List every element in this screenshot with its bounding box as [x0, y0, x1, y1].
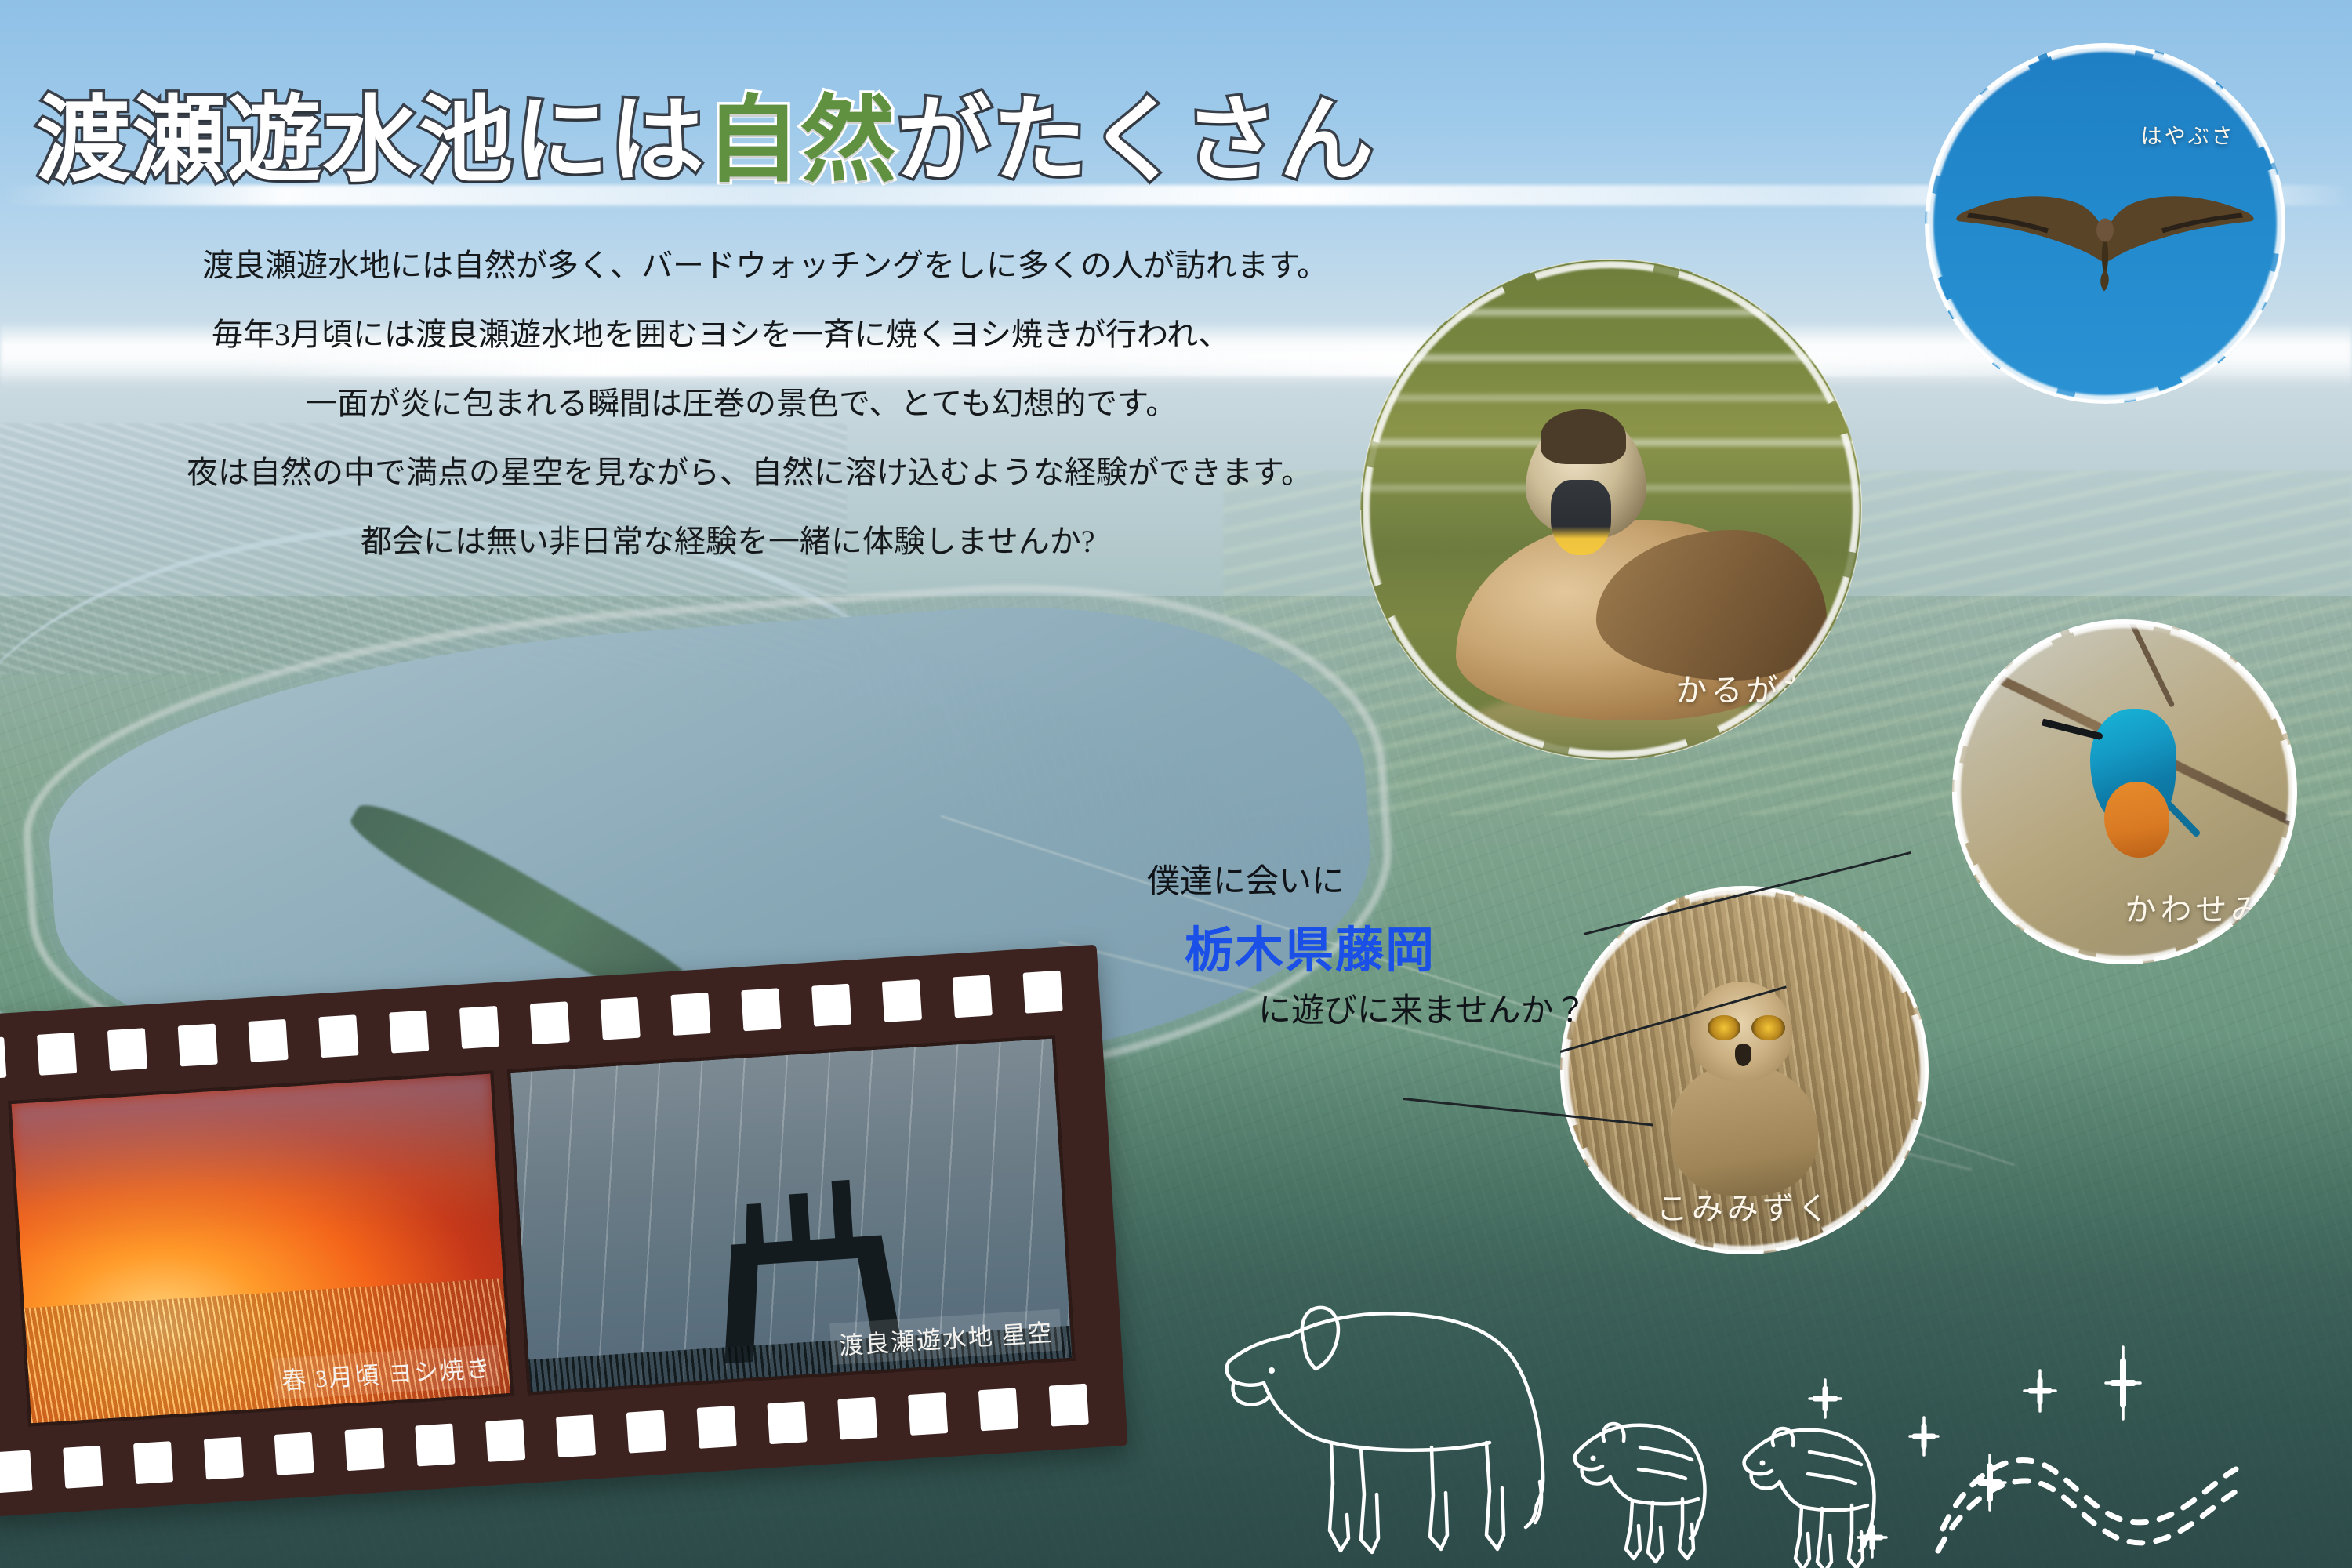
wild-boar-illustration: [1223, 1286, 2344, 1568]
branch-twig: [2095, 619, 2176, 708]
sparkles-icon: [1809, 1347, 2140, 1557]
bird-caption-duck: かるがも: [1675, 665, 1817, 710]
bird-photo-owl[interactable]: こみみずく: [1560, 886, 1929, 1254]
falcon-icon: [1936, 184, 2274, 306]
kingfisher-belly: [2104, 782, 2170, 858]
poster-canvas: 渡瀬遊水池には自然がたくさん 渡良瀬遊水地には自然が多く、バードウォッチングをし…: [0, 0, 2352, 1568]
boar-piglet-1-icon: [1575, 1424, 1705, 1562]
body-line-3: 一面が炎に包まれる瞬間は圧巻の景色で、とても幻想的です。: [180, 387, 1372, 420]
water-streak: [1360, 309, 1862, 316]
body-line-5: 都会には無い非日常な経験を一緒に体験しませんか?: [180, 525, 1372, 558]
bird-caption-kingfisher: かわせみ: [2125, 884, 2266, 930]
title-part-1: 渡瀬遊水池には: [36, 88, 706, 193]
body-line-1: 渡良瀬遊水地には自然が多く、バードウォッチングをしに多くの人が訪れます。: [180, 249, 1372, 282]
smoke-layer: [12, 1074, 500, 1251]
boar-piglet-2-icon: [1744, 1428, 1875, 1568]
filmstrip-frame-reed-burning[interactable]: 春 3月頃 ヨシ焼き: [8, 1070, 514, 1426]
duck-crown: [1541, 409, 1626, 464]
dashed-trail-icon: [1938, 1461, 2239, 1551]
cta-line-3: に遊びに来ませんか？: [1258, 984, 1587, 1032]
boar-adult-icon: [1227, 1308, 1544, 1552]
filmstrip[interactable]: 春 3月頃 ヨシ焼き 渡良瀬遊水地 星空: [0, 945, 1128, 1517]
call-to-action: 僕達に会いに 栃木県藤岡 に遊びに来ませんか？: [1141, 855, 1587, 1032]
bird-photo-kingfisher[interactable]: かわせみ: [1952, 619, 2297, 964]
filmstrip-frame-starry-sky[interactable]: 渡良瀬遊水地 星空: [507, 1035, 1076, 1395]
bird-caption-falcon: はやぶさ: [2141, 119, 2235, 150]
bird-photo-duck[interactable]: かるがも: [1360, 259, 1862, 760]
bird-caption-owl: こみみずく: [1657, 1183, 1833, 1229]
duck-bill: [1551, 480, 1611, 555]
water-streak: [1360, 354, 1862, 361]
title-part-accent: 自然: [706, 88, 897, 193]
cta-location-highlight: 栃木県藤岡: [1185, 910, 1587, 981]
water-streak: [1360, 394, 1862, 401]
page-title: 渡瀬遊水池には自然がたくさん: [36, 91, 1375, 190]
body-line-4: 夜は自然の中で満点の星空を見ながら、自然に溶け込むような経験ができます。: [180, 456, 1372, 489]
bird-photo-falcon[interactable]: はやぶさ: [1925, 43, 2285, 404]
body-line-2: 毎年3月頃には渡良瀬遊水地を囲むヨシを一斉に焼くヨシ焼きが行われ、: [180, 318, 1372, 351]
title-part-3: がたくさん: [897, 88, 1375, 193]
body-copy: 渡良瀬遊水地には自然が多く、バードウォッチングをしに多くの人が訪れます。 毎年3…: [180, 249, 1372, 558]
falcon-photo-content: [1925, 43, 2285, 404]
cta-line-1: 僕達に会いに: [1147, 855, 1587, 902]
owl-eye-right: [1751, 1015, 1784, 1041]
